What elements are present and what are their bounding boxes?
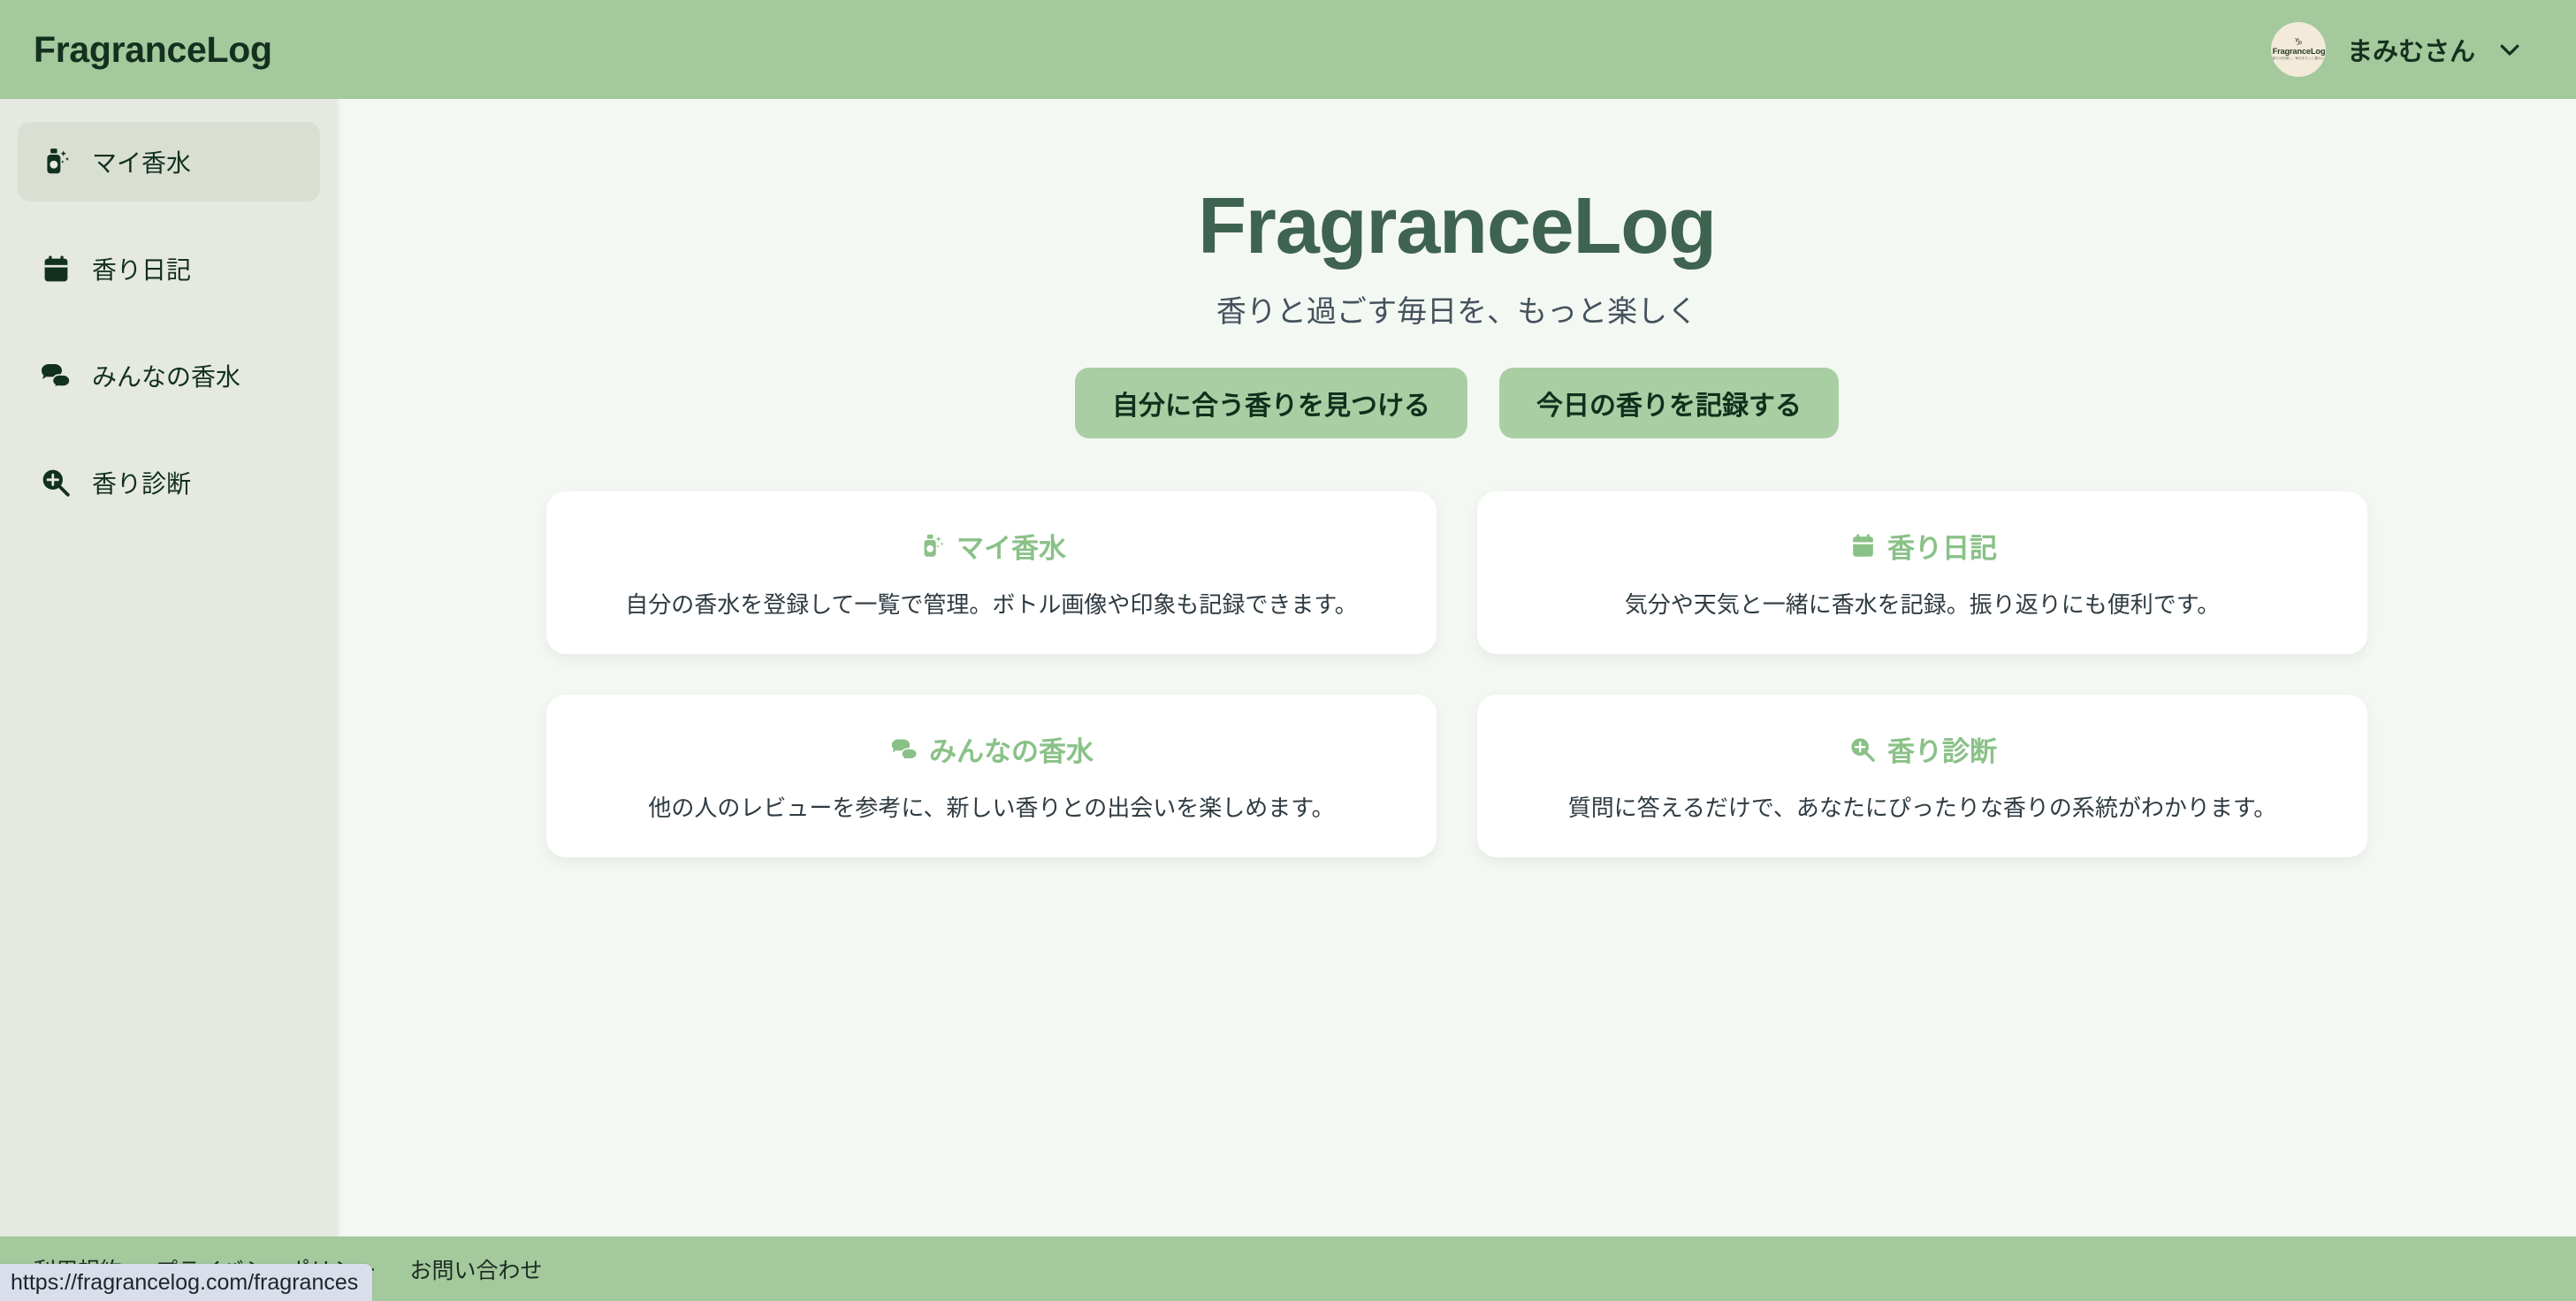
status-bar-url: https://fragrancelog.com/fragrances <box>0 1264 372 1301</box>
record-today-button[interactable]: 今日の香りを記録する <box>1499 368 1839 438</box>
sidebar-item-my-perfume[interactable]: マイ香水 <box>18 122 320 202</box>
hero-actions: 自分に合う香りを見つける 今日の香りを記録する <box>338 368 2576 438</box>
avatar[interactable]: ♑ FragranceLog 香りの記録し、毎日をもっと豊かに <box>2271 22 2326 77</box>
avatar-logo-text: FragranceLog <box>2272 48 2325 57</box>
comments-icon <box>889 734 919 765</box>
sidebar-item-diagnosis[interactable]: 香り診断 <box>18 443 320 522</box>
comments-icon <box>39 359 72 392</box>
card-description: 他の人のレビューを参考に、新しい香りとの出会いを楽しめます。 <box>648 790 1334 823</box>
perfume-bottle-icon <box>917 531 947 561</box>
sidebar: マイ香水 香り日記 <box>0 99 338 1236</box>
app-window: FragranceLog ♑ FragranceLog 香りの記録し、毎日をもっ… <box>0 0 2576 1301</box>
card-title: 香り日記 <box>1887 526 1997 566</box>
feature-card-my-perfume[interactable]: マイ香水 自分の香水を登録して一覧で管理。ボトル画像や印象も記録できます。 <box>546 491 1437 654</box>
avatar-logo-mark: ♑ <box>2294 39 2303 47</box>
body-row: マイ香水 香り日記 <box>0 99 2576 1236</box>
feature-card-diary[interactable]: 香り日記 気分や天気と一緒に香水を記録。振り返りにも便利です。 <box>1477 491 2367 654</box>
main-content: FragranceLog 香りと過ごす毎日を、もっと楽しく 自分に合う香りを見つ… <box>338 99 2576 1236</box>
card-title: みんなの香水 <box>929 729 1094 769</box>
card-title: 香り診断 <box>1887 729 1997 769</box>
hero-subtitle: 香りと過ごす毎日を、もっと楽しく <box>338 287 2576 331</box>
brand-logo[interactable]: FragranceLog <box>34 32 272 68</box>
card-header: 香り診断 <box>1848 729 1997 769</box>
avatar-tagline: 香りの記録し、毎日をもっと豊かに <box>2272 57 2324 61</box>
feature-card-community[interactable]: みんなの香水 他の人のレビューを参考に、新しい香りとの出会いを楽しめます。 <box>546 695 1437 857</box>
feature-cards: マイ香水 自分の香水を登録して一覧で管理。ボトル画像や印象も記録できます。 <box>546 491 2367 857</box>
card-description: 気分や天気と一緒に香水を記録。振り返りにも便利です。 <box>1625 587 2220 620</box>
sidebar-item-community[interactable]: みんなの香水 <box>18 336 320 415</box>
card-description: 質問に答えるだけで、あなたにぴったりな香りの系統がわかります。 <box>1568 790 2277 823</box>
card-header: マイ香水 <box>917 526 1066 566</box>
perfume-bottle-icon <box>39 145 72 179</box>
calendar-icon <box>39 252 72 285</box>
sidebar-item-diary[interactable]: 香り日記 <box>18 229 320 308</box>
card-header: 香り日記 <box>1848 526 1997 566</box>
card-header: みんなの香水 <box>889 729 1094 769</box>
chevron-down-icon[interactable] <box>2496 36 2523 63</box>
footer-link-contact[interactable]: お問い合わせ <box>410 1253 543 1285</box>
user-menu[interactable]: ♑ FragranceLog 香りの記録し、毎日をもっと豊かに まみむさん <box>2271 22 2534 77</box>
find-fragrance-button[interactable]: 自分に合う香りを見つける <box>1075 368 1467 438</box>
card-title: マイ香水 <box>956 526 1066 566</box>
feature-card-diagnosis[interactable]: 香り診断 質問に答えるだけで、あなたにぴったりな香りの系統がわかります。 <box>1477 695 2367 857</box>
page-title: FragranceLog <box>338 184 2576 270</box>
calendar-icon <box>1848 531 1878 561</box>
sidebar-item-label: マイ香水 <box>92 144 191 179</box>
card-description: 自分の香水を登録して一覧で管理。ボトル画像や印象も記録できます。 <box>625 587 1358 620</box>
hero-section: FragranceLog 香りと過ごす毎日を、もっと楽しく 自分に合う香りを見つ… <box>338 184 2576 438</box>
search-plus-icon <box>1848 734 1878 765</box>
sidebar-item-label: みんなの香水 <box>92 358 240 393</box>
search-plus-icon <box>39 466 72 499</box>
app-header: FragranceLog ♑ FragranceLog 香りの記録し、毎日をもっ… <box>0 0 2576 99</box>
app-footer: 利用規約 プライバシーポリシー お問い合わせ <box>0 1236 2576 1301</box>
user-name-label: まみむさん <box>2347 31 2475 68</box>
sidebar-item-label: 香り診断 <box>92 465 191 500</box>
sidebar-item-label: 香り日記 <box>92 251 191 286</box>
